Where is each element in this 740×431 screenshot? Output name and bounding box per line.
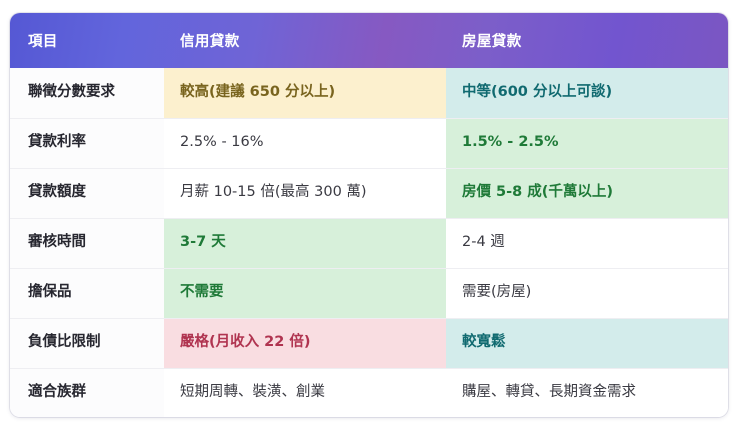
table-row: 貸款利率 2.5% - 16% 1.5% - 2.5%	[10, 118, 728, 168]
credit-value-cell: 月薪 10-15 倍(最高 300 萬)	[164, 168, 446, 218]
credit-value-cell: 3-7 天	[164, 218, 446, 268]
house-value-cell: 1.5% - 2.5%	[446, 118, 728, 168]
table-row: 適合族群 短期周轉、裝潢、創業 購屋、轉貸、長期資金需求	[10, 368, 728, 417]
row-label-cell: 審核時間	[10, 218, 164, 268]
table-row: 聯徵分數要求 較高(建議 650 分以上) 中等(600 分以上可談)	[10, 68, 728, 118]
table-row: 貸款額度 月薪 10-15 倍(最高 300 萬) 房價 5-8 成(千萬以上)	[10, 168, 728, 218]
row-label-cell: 適合族群	[10, 368, 164, 417]
row-label-cell: 負債比限制	[10, 318, 164, 368]
credit-value-cell: 2.5% - 16%	[164, 118, 446, 168]
house-value-cell: 較寬鬆	[446, 318, 728, 368]
column-header-item: 項目	[10, 13, 164, 68]
column-header-credit: 信用貸款	[164, 13, 446, 68]
row-label-cell: 貸款利率	[10, 118, 164, 168]
house-value-cell: 中等(600 分以上可談)	[446, 68, 728, 118]
house-value-cell: 2-4 週	[446, 218, 728, 268]
loan-comparison-table: 項目 信用貸款 房屋貸款 聯徵分數要求 較高(建議 650 分以上) 中等(60…	[10, 13, 728, 417]
header-row: 項目 信用貸款 房屋貸款	[10, 13, 728, 68]
row-label-cell: 擔保品	[10, 268, 164, 318]
row-label-cell: 聯徵分數要求	[10, 68, 164, 118]
credit-value-cell: 不需要	[164, 268, 446, 318]
house-value-cell: 購屋、轉貸、長期資金需求	[446, 368, 728, 417]
table-body: 聯徵分數要求 較高(建議 650 分以上) 中等(600 分以上可談) 貸款利率…	[10, 68, 728, 417]
page-root: 項目 信用貸款 房屋貸款 聯徵分數要求 較高(建議 650 分以上) 中等(60…	[0, 0, 740, 431]
table-row: 審核時間 3-7 天 2-4 週	[10, 218, 728, 268]
column-header-house: 房屋貸款	[446, 13, 728, 68]
house-value-cell: 需要(房屋)	[446, 268, 728, 318]
table-row: 擔保品 不需要 需要(房屋)	[10, 268, 728, 318]
table-row: 負債比限制 嚴格(月收入 22 倍) 較寬鬆	[10, 318, 728, 368]
table-header: 項目 信用貸款 房屋貸款	[10, 13, 728, 68]
credit-value-cell: 短期周轉、裝潢、創業	[164, 368, 446, 417]
row-label-cell: 貸款額度	[10, 168, 164, 218]
credit-value-cell: 較高(建議 650 分以上)	[164, 68, 446, 118]
loan-comparison-card: 項目 信用貸款 房屋貸款 聯徵分數要求 較高(建議 650 分以上) 中等(60…	[10, 13, 728, 417]
house-value-cell: 房價 5-8 成(千萬以上)	[446, 168, 728, 218]
credit-value-cell: 嚴格(月收入 22 倍)	[164, 318, 446, 368]
